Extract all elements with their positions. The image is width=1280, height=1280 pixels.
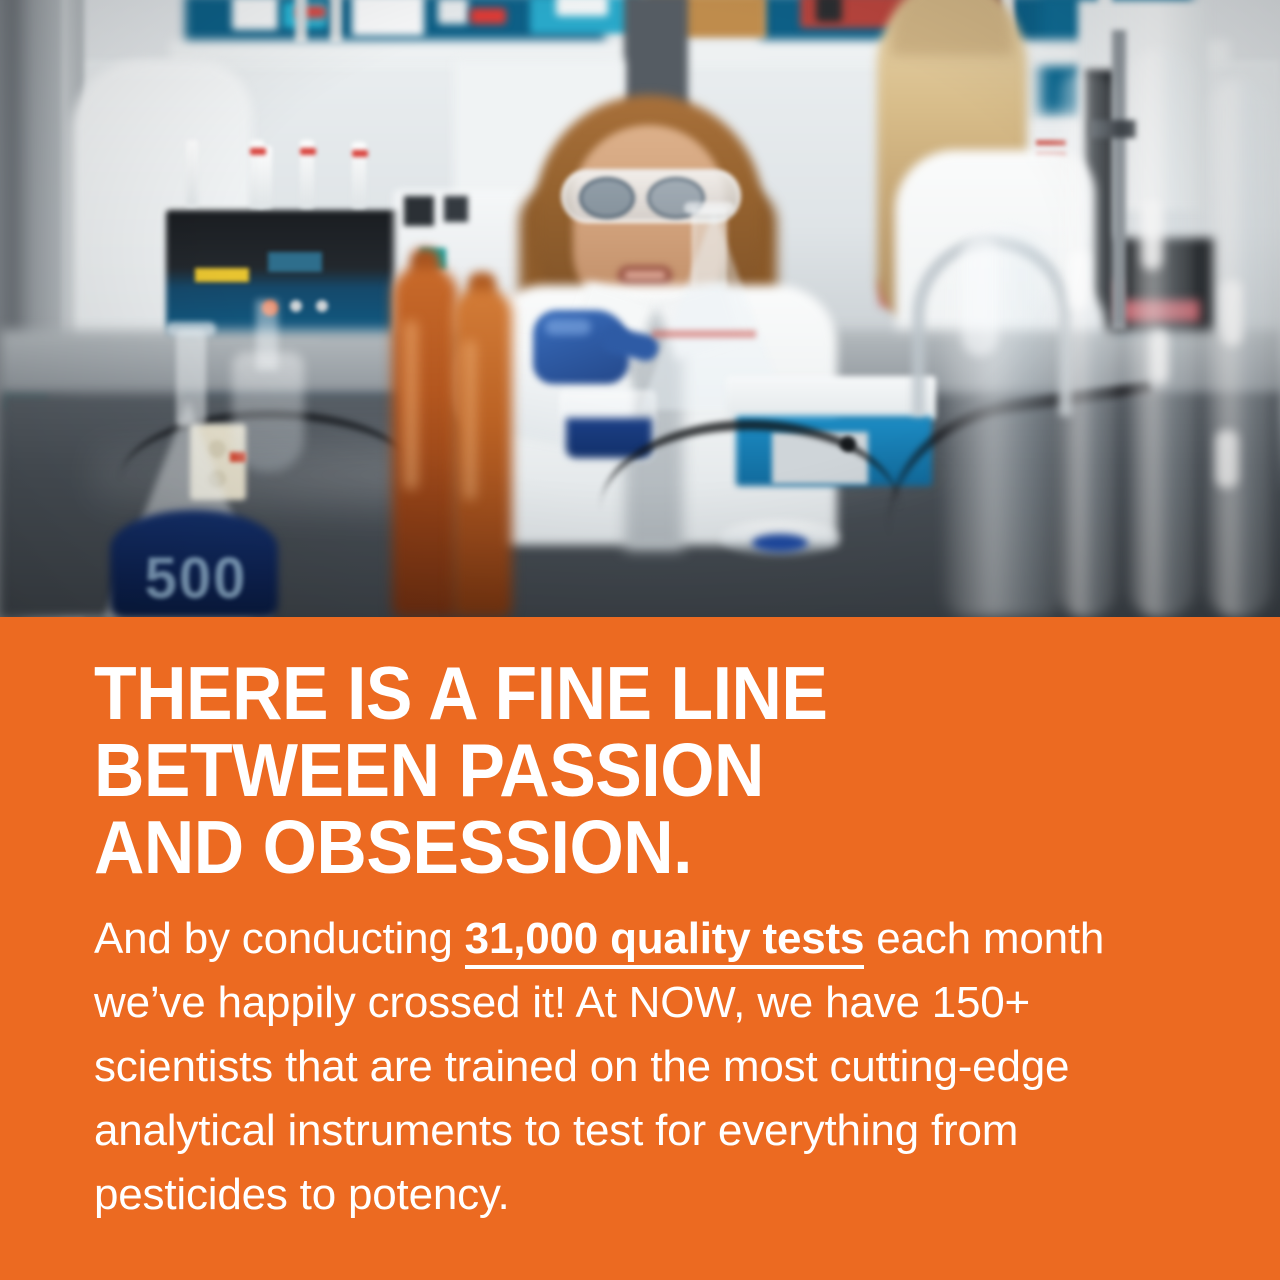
glass-highlight	[1070, 250, 1088, 310]
poster: 500 THERE IS A FINE LINE BETWEEN PASSION…	[0, 0, 1280, 1280]
test-tube-cap	[250, 148, 266, 155]
flask-graduation-mark	[652, 330, 756, 338]
cabinet-mullion	[295, 0, 307, 44]
instrument-module	[444, 196, 468, 222]
test-tube-cap	[300, 148, 316, 155]
test-tube	[186, 140, 198, 206]
page-title: THERE IS A FINE LINE BETWEEN PASSION AND…	[94, 655, 1117, 886]
test-tube-cap	[352, 150, 368, 157]
amber-bottle-highlight	[464, 340, 476, 500]
instrument-label	[195, 268, 249, 282]
orange-text-panel: THERE IS A FINE LINE BETWEEN PASSION AND…	[0, 617, 1280, 1280]
shelf-item	[556, 0, 608, 16]
erlenmeyer-flask-neck	[692, 208, 726, 288]
cabinet-mullion	[330, 0, 342, 44]
bench-instrument-top	[726, 376, 936, 420]
instrument-knob	[290, 300, 302, 312]
flask-volume-label: 500	[118, 548, 274, 610]
shelf-item	[470, 8, 506, 24]
instrument-display	[268, 252, 322, 272]
glass-highlight	[1150, 330, 1168, 384]
glass-highlight	[1216, 430, 1238, 488]
body-lead-text: And by conducting	[94, 914, 465, 963]
glass-highlight	[1142, 200, 1162, 270]
amber-bottle-highlight	[404, 320, 418, 490]
glass-column	[1058, 70, 1116, 618]
shelf-item	[816, 0, 842, 22]
shelf-item	[232, 0, 278, 30]
shelf-item	[438, 0, 468, 24]
erlenmeyer-flask-rim	[684, 202, 734, 214]
quality-tests-highlight: 31,000 quality tests	[465, 914, 865, 969]
shelf-item	[352, 0, 424, 36]
instrument-module	[404, 196, 434, 226]
eyeglass-lens-left	[579, 177, 635, 219]
body-paragraph: And by conducting 31,000 quality tests e…	[94, 907, 1199, 1227]
scientist-hair-crown	[891, 0, 1013, 56]
glass-highlight	[1222, 280, 1242, 346]
instrument-knob	[316, 300, 328, 312]
amber-reagent-bottle	[452, 290, 512, 618]
test-tube	[258, 146, 272, 208]
amber-reagent-bottle	[392, 268, 458, 618]
lab-photo: 500	[0, 0, 1280, 618]
glove-highlight	[545, 319, 591, 335]
glass-column	[1206, 80, 1272, 618]
petri-dish-contents	[752, 534, 808, 552]
foreground-glassware-neck	[962, 236, 998, 356]
